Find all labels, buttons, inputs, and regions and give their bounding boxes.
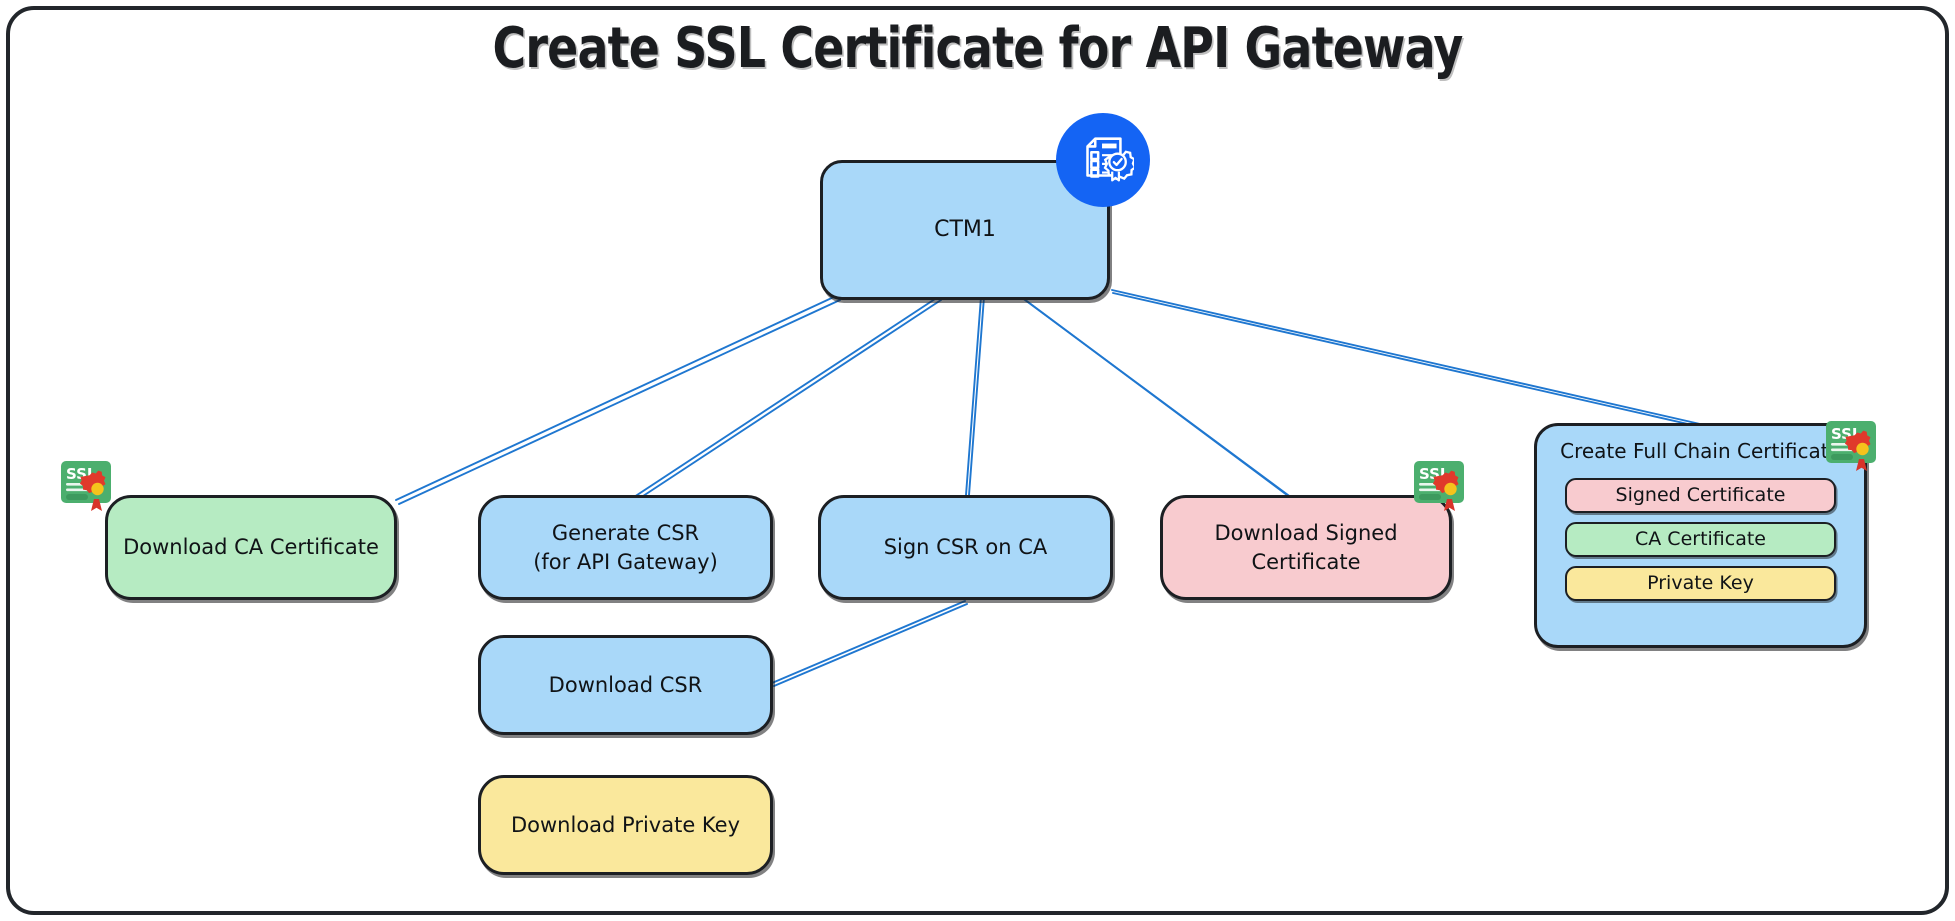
ssl-certificate-icon: SSL <box>1413 460 1477 510</box>
subitem-ca-certificate-label: CA Certificate <box>1635 527 1766 553</box>
subitem-private-key[interactable]: Private Key <box>1565 566 1836 601</box>
ssl-certificate-icon: SSL <box>1825 420 1889 470</box>
certificate-seal-icon <box>1056 113 1150 207</box>
node-download-private-key-label: Download Private Key <box>497 811 754 839</box>
diagram-canvas: Create SSL Certificate for API Gateway C… <box>0 0 1955 921</box>
node-generate-csr[interactable]: Generate CSR (for API Gateway) <box>478 495 773 600</box>
ssl-certificate-glyph: SSL <box>60 460 124 514</box>
node-ctm1-label: CTM1 <box>920 215 1010 245</box>
subitem-ca-certificate[interactable]: CA Certificate <box>1565 522 1836 557</box>
node-download-csr-label: Download CSR <box>535 671 717 699</box>
node-download-ca-certificate-label: Download CA Certificate <box>109 533 393 561</box>
node-download-ca-certificate[interactable]: Download CA Certificate <box>105 495 397 600</box>
node-download-signed-certificate[interactable]: Download Signed Certificate <box>1160 495 1452 600</box>
node-create-full-chain-certificate-title: Create Full Chain Certificate <box>1537 426 1864 469</box>
subitem-signed-certificate[interactable]: Signed Certificate <box>1565 478 1836 513</box>
node-sign-csr-on-ca-label: Sign CSR on CA <box>870 533 1062 561</box>
certificate-seal-glyph <box>1072 129 1134 191</box>
node-download-private-key[interactable]: Download Private Key <box>478 775 773 875</box>
ssl-certificate-icon: SSL <box>60 460 124 510</box>
rosette-glyph <box>1105 152 1134 181</box>
subitem-signed-certificate-label: Signed Certificate <box>1616 483 1786 509</box>
node-create-full-chain-certificate[interactable]: Create Full Chain Certificate Signed Cer… <box>1534 423 1867 648</box>
node-generate-csr-label: Generate CSR (for API Gateway) <box>519 519 732 576</box>
node-download-csr[interactable]: Download CSR <box>478 635 773 735</box>
node-sign-csr-on-ca[interactable]: Sign CSR on CA <box>818 495 1113 600</box>
ssl-certificate-glyph: SSL <box>1825 420 1889 474</box>
node-download-signed-certificate-label: Download Signed Certificate <box>1163 519 1449 576</box>
ssl-certificate-glyph: SSL <box>1413 460 1477 514</box>
subitem-private-key-label: Private Key <box>1647 571 1754 597</box>
page-title: Create SSL Certificate for API Gateway <box>176 16 1779 81</box>
